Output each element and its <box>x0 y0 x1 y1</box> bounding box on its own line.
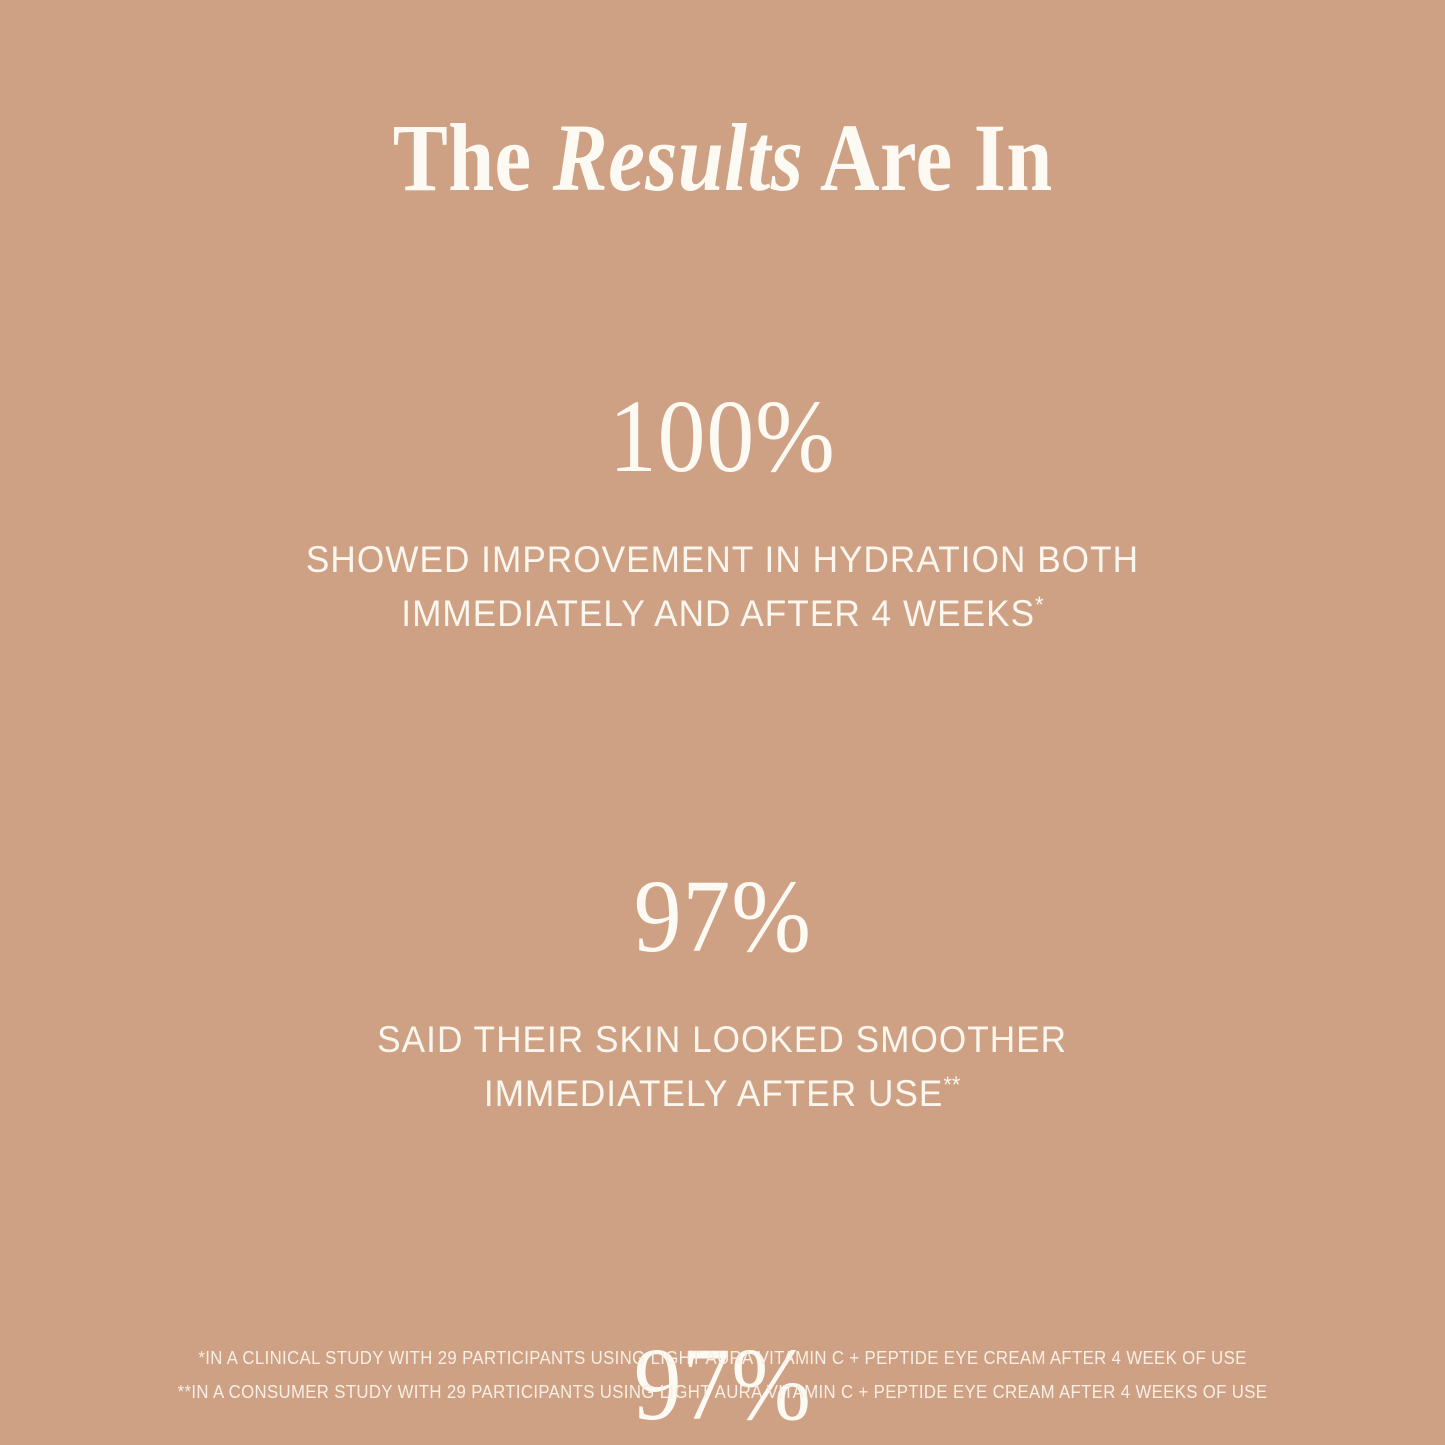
page-title-emphasis: Results <box>553 104 804 211</box>
results-poster: The Results Are In 100% SHOWED IMPROVEME… <box>0 0 1445 1445</box>
page-title: The Results Are In <box>393 108 1053 209</box>
stat-value: 97% <box>633 865 811 969</box>
page-title-suffix: Are In <box>803 104 1052 211</box>
stat-caption: SAID THEIR SKIN LOOKED SMOOTHER IMMEDIAT… <box>378 1013 1068 1121</box>
stat-block-smoothness: 97% SAID THEIR SKIN LOOKED SMOOTHER IMME… <box>0 865 1445 1121</box>
stat-caption-line: SAID THEIR SKIN LOOKED SMOOTHER <box>378 1013 1068 1067</box>
page-title-prefix: The <box>393 104 553 211</box>
stat-caption-text: IMMEDIATELY AFTER USE <box>484 1073 943 1114</box>
stat-caption-line: IMMEDIATELY AND AFTER 4 WEEKS* <box>306 587 1139 641</box>
stat-caption-line: SHOWED IMPROVEMENT IN HYDRATION BOTH <box>306 533 1139 587</box>
footnote-marker: * <box>1035 592 1043 618</box>
stat-caption: SHOWED IMPROVEMENT IN HYDRATION BOTH IMM… <box>306 533 1139 641</box>
footnote-consumer-study: **IN A CONSUMER STUDY WITH 29 PARTICIPAN… <box>51 1376 1395 1409</box>
stat-block-hydration: 100% SHOWED IMPROVEMENT IN HYDRATION BOT… <box>0 385 1445 641</box>
stat-caption-line: IMMEDIATELY AFTER USE** <box>378 1067 1068 1121</box>
stat-list: 100% SHOWED IMPROVEMENT IN HYDRATION BOT… <box>0 273 1445 1445</box>
footnote-marker: ** <box>944 1072 961 1098</box>
footnote-list: *IN A CLINICAL STUDY WITH 29 PARTICIPANT… <box>0 1342 1445 1409</box>
footnote-clinical-study: *IN A CLINICAL STUDY WITH 29 PARTICIPANT… <box>51 1342 1395 1375</box>
stat-caption-text: IMMEDIATELY AND AFTER 4 WEEKS <box>401 593 1035 634</box>
stat-value: 100% <box>609 385 836 489</box>
